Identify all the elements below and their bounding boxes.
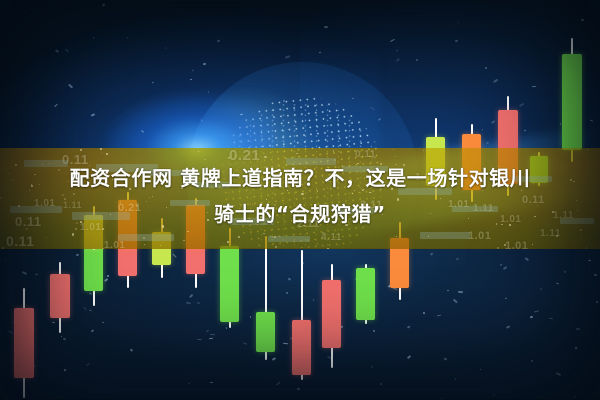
sparkle-dot — [100, 148, 102, 150]
sparkle-dot — [504, 244, 505, 245]
sparkle-dot — [106, 153, 108, 155]
candle-body — [356, 268, 375, 320]
sparkle-dot — [275, 246, 277, 248]
background-number: 0.11 — [355, 149, 376, 160]
banner-image: 0.110.210.111.111.011.110.111.010.210.11… — [0, 0, 600, 400]
sparkle-dot — [317, 243, 318, 244]
sparkle-dot — [587, 149, 588, 150]
sparkle-dot — [581, 238, 582, 239]
candle-body — [256, 312, 275, 352]
candle-body — [50, 274, 70, 318]
sparkle-dot — [227, 241, 229, 243]
background-number: 1.01 — [505, 240, 528, 249]
sparkle-dot — [72, 233, 74, 235]
sparkle-dot — [144, 244, 145, 245]
sparkle-dot — [274, 236, 276, 238]
sparkle-dot — [327, 248, 329, 249]
sparkle-dot — [372, 158, 373, 159]
sparkle-dot — [198, 151, 199, 152]
background-data-bar — [118, 234, 174, 241]
sparkle-dot — [143, 237, 145, 239]
sparkle-dot — [374, 157, 375, 158]
sparkle-dot — [423, 150, 424, 151]
background-number: 1.01 — [104, 240, 125, 249]
sparkle-dot — [160, 245, 161, 246]
sparkle-dot — [296, 153, 297, 154]
sparkle-dot — [2, 247, 4, 249]
sparkle-dot — [586, 247, 587, 248]
sparkle-dot — [396, 236, 397, 237]
candle-body — [292, 320, 311, 375]
sparkle-dot — [101, 152, 102, 153]
candle-body — [220, 246, 239, 322]
sparkle-dot — [532, 244, 533, 245]
sparkle-dot — [570, 148, 571, 149]
page-title: 配资合作网 黄牌上道指南？不，这是一场针对银川 骑士的“合规狩猎” — [0, 160, 600, 232]
background-number: 4.11 — [321, 232, 342, 243]
sparkle-dot — [183, 240, 185, 242]
sparkle-dot — [238, 236, 240, 238]
sparkle-dot — [393, 149, 394, 150]
sparkle-dot — [556, 235, 558, 237]
sparkle-dot — [395, 156, 397, 158]
candle-body — [14, 308, 34, 378]
sparkle-dot — [80, 149, 82, 151]
sparkle-dot — [497, 247, 499, 249]
sparkle-dot — [46, 237, 47, 238]
top-edge-line — [0, 0, 600, 1]
background-number: 0.11 — [6, 233, 34, 249]
candle-body — [562, 54, 582, 150]
sparkle-dot — [264, 156, 267, 159]
candle-body — [322, 280, 341, 348]
sparkle-dot — [333, 150, 334, 151]
sparkle-dot — [263, 233, 265, 235]
sparkle-dot — [102, 248, 104, 250]
sparkle-dot — [228, 157, 230, 159]
